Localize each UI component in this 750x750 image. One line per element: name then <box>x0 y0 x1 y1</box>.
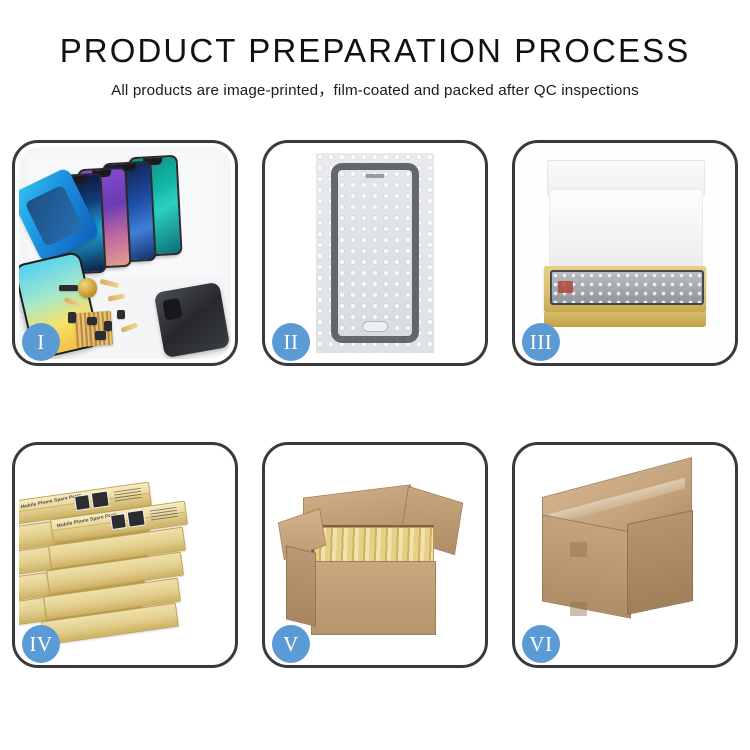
page-title: PRODUCT PREPARATION PROCESS <box>0 34 750 69</box>
box-screen-graphic-icon <box>110 514 127 531</box>
box-screen-graphic-icon <box>74 494 91 511</box>
step-badge-3: III <box>522 323 560 361</box>
kraft-tray-icon <box>544 266 705 313</box>
box-spec-lines-icon <box>149 507 177 522</box>
chip-icon <box>68 312 76 323</box>
kraft-tray-front-icon <box>544 312 705 327</box>
step-badge-6: VI <box>522 625 560 663</box>
process-step-panel-6: VI <box>512 442 738 668</box>
chip-icon <box>87 317 98 325</box>
chip-icon <box>104 321 112 332</box>
process-step-panel-1: I <box>12 140 238 366</box>
chip-icon <box>59 285 78 291</box>
carton-hand-hole-icon <box>570 542 587 557</box>
process-panel-grid: I II III <box>12 140 738 668</box>
flex-cable-icon <box>99 278 119 288</box>
process-step-panel-2: II <box>262 140 488 366</box>
bubble-wrap-sheet-icon <box>316 153 435 352</box>
step-badge-4: IV <box>22 625 60 663</box>
box-screen-graphic-icon <box>127 510 146 528</box>
wrapped-screen-in-tray-icon <box>550 270 704 305</box>
carton-right-face-icon <box>627 510 693 615</box>
carton-front-face-icon <box>311 561 436 635</box>
process-step-panel-4: Mobile Phone Spare Parts Mobile Phone Sp… <box>12 442 238 668</box>
phone-back-cover-icon <box>154 282 230 358</box>
wireless-charging-coil-icon <box>78 278 97 297</box>
box-spec-lines-icon <box>113 488 141 503</box>
box-screen-graphic-icon <box>91 491 110 509</box>
carton-left-face-icon <box>286 545 316 626</box>
process-step-panel-5: V <box>262 442 488 668</box>
process-step-panel-3: III <box>512 140 738 366</box>
chip-icon <box>117 310 125 318</box>
flex-cable-icon <box>108 294 126 303</box>
carton-hand-hole-icon <box>570 602 587 617</box>
kraft-boxes-inside-carton-icon <box>314 527 435 563</box>
header: PRODUCT PREPARATION PROCESS All products… <box>0 0 750 100</box>
phone-glass-panel-icon <box>331 163 419 342</box>
step-badge-2: II <box>272 323 310 361</box>
step-badge-1: I <box>22 323 60 361</box>
step-badge-5: V <box>272 625 310 663</box>
page-subtitle: All products are image-printed，film-coat… <box>0 78 750 100</box>
flex-cable-icon <box>120 322 138 333</box>
chip-icon <box>95 331 106 339</box>
white-foam-padding-icon <box>549 189 704 269</box>
